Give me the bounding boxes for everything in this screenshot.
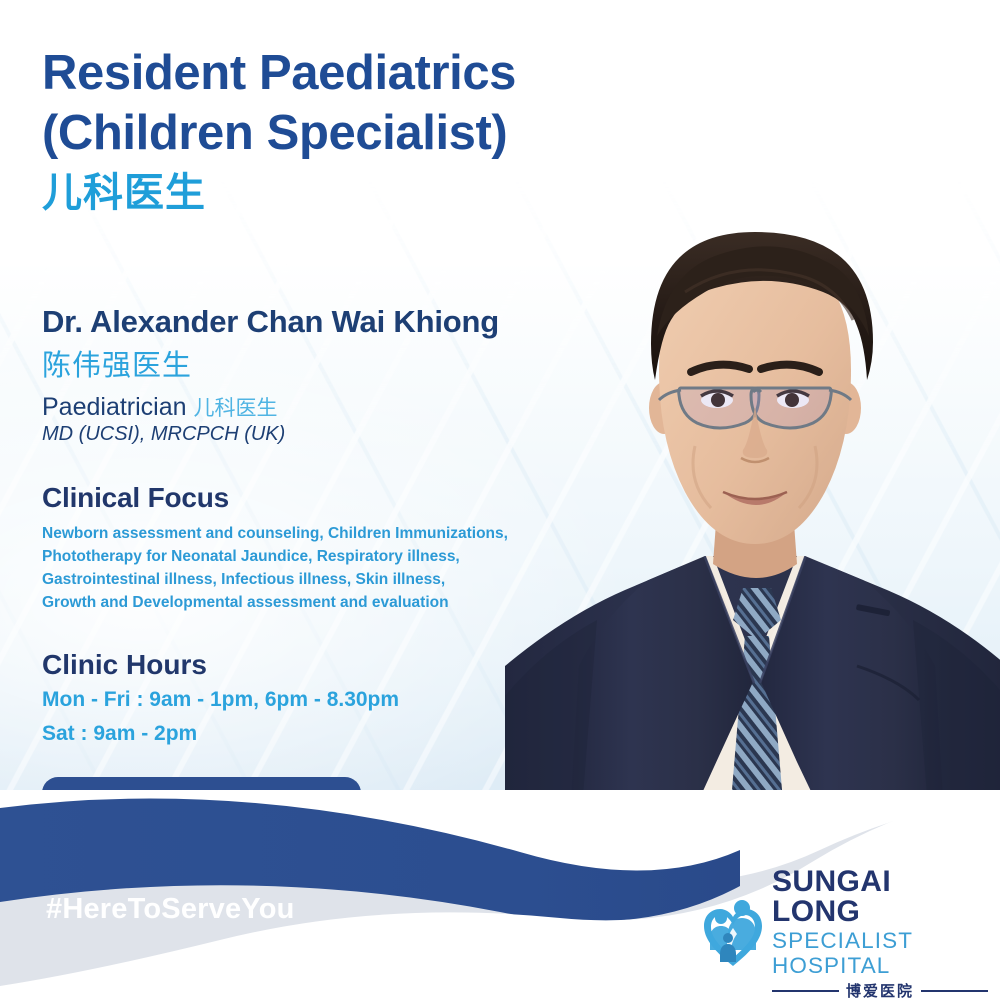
doctor-name-chinese: 陈伟强医生 [42,342,602,384]
clinical-focus-heading: Clinical Focus [42,446,602,514]
title-line-1: Resident Paediatrics [42,46,516,100]
clinical-focus-line: Gastrointestinal illness, Infectious ill… [42,568,602,591]
logo-rule-right [921,990,988,992]
logo-line-3: 博爱医院 [772,980,988,1000]
clinic-hours-saturday: Sat : 9am - 2pm [42,719,602,749]
title-line-2: (Children Specialist) [42,106,507,160]
doctor-role-en: Paediatrician [42,393,187,421]
heart-family-icon [700,898,766,970]
hashtag-slogan: #HereToServeYou [46,893,295,926]
logo-line-1: SUNGAI LONG [772,867,988,928]
page-title: Resident Paediatrics (Children Specialis… [42,0,602,164]
clinic-hours-weekday: Mon - Fri : 9am - 1pm, 6pm - 8.30pm [42,685,602,715]
logo-line-2: SPECIALIST HOSPITAL [772,928,988,978]
clinical-focus-line: Phototherapy for Neonatal Jaundice, Resp… [42,545,602,568]
clinic-hours-heading: Clinic Hours [42,615,602,681]
doctor-qualifications: MD (UCSI), MRCPCH (UK) [42,423,602,446]
clinical-focus-list: Newborn assessment and counseling, Child… [42,522,602,615]
logo-rule-left [772,990,839,992]
logo-wordmark: SUNGAI LONG SPECIALIST HOSPITAL 博爱医院 [772,867,988,1000]
doctor-role-cn: 儿科医生 [193,397,277,420]
doctor-role: Paediatrician 儿科医生 [42,392,602,422]
clinical-focus-line: Growth and Developmental assessment and … [42,591,602,614]
clinical-focus-line: Newborn assessment and counseling, Child… [42,522,602,545]
title-chinese: 儿科医生 [42,170,602,216]
poster-canvas: Resident Paediatrics (Children Specialis… [0,0,1000,1000]
hospital-logo: SUNGAI LONG SPECIALIST HOSPITAL 博爱医院 [700,888,988,980]
logo-chinese-name: 博爱医院 [846,980,914,1000]
doctor-name: Dr. Alexander Chan Wai Khiong [42,216,602,340]
content-column: Resident Paediatrics (Children Specialis… [42,0,602,863]
